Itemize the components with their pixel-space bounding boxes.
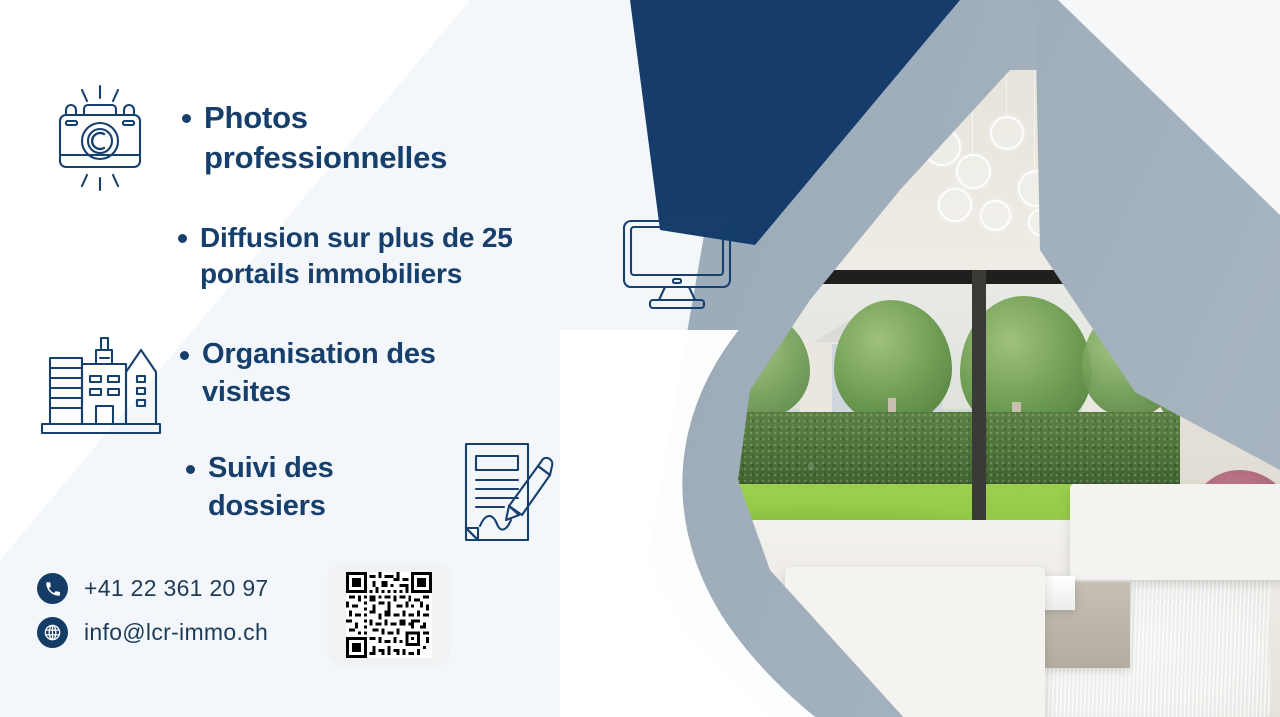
- bullet-dot: [186, 465, 195, 474]
- feature-item-photos: Photos professionnelles: [182, 98, 482, 179]
- contact-email-row[interactable]: info@lcr-immo.ch: [37, 617, 269, 648]
- email-address: info@lcr-immo.ch: [84, 619, 268, 646]
- camera-icon: [44, 82, 156, 194]
- feature-label: Organisation des visites: [202, 336, 480, 411]
- phone-number: +41 22 361 20 97: [84, 575, 269, 602]
- poster-canvas: Photos professionnelles Diffusion sur pl…: [0, 0, 1280, 717]
- phone-icon: [37, 573, 68, 604]
- feature-item-dossiers: Suivi des dossiers: [186, 450, 446, 525]
- feature-item-visites: Organisation des visites: [180, 336, 480, 411]
- qr-code[interactable]: [346, 572, 432, 658]
- feature-label: Photos professionnelles: [204, 98, 482, 179]
- bullet-dot: [182, 114, 191, 123]
- qr-code-card[interactable]: [327, 563, 451, 667]
- globe-icon: [37, 617, 68, 648]
- contact-phone-row[interactable]: +41 22 361 20 97: [37, 573, 269, 604]
- contract-signature-icon: [452, 438, 570, 550]
- feature-label: Diffusion sur plus de 25 portails immobi…: [200, 220, 608, 293]
- buildings-icon: [38, 332, 164, 438]
- contact-block: +41 22 361 20 97 info@lcr-immo.ch: [37, 573, 269, 661]
- bullet-dot: [178, 234, 187, 243]
- bullet-dot: [180, 351, 189, 360]
- feature-label: Suivi des dossiers: [208, 450, 446, 525]
- feature-item-diffusion: Diffusion sur plus de 25 portails immobi…: [178, 220, 608, 293]
- monitor-icon: [618, 216, 736, 312]
